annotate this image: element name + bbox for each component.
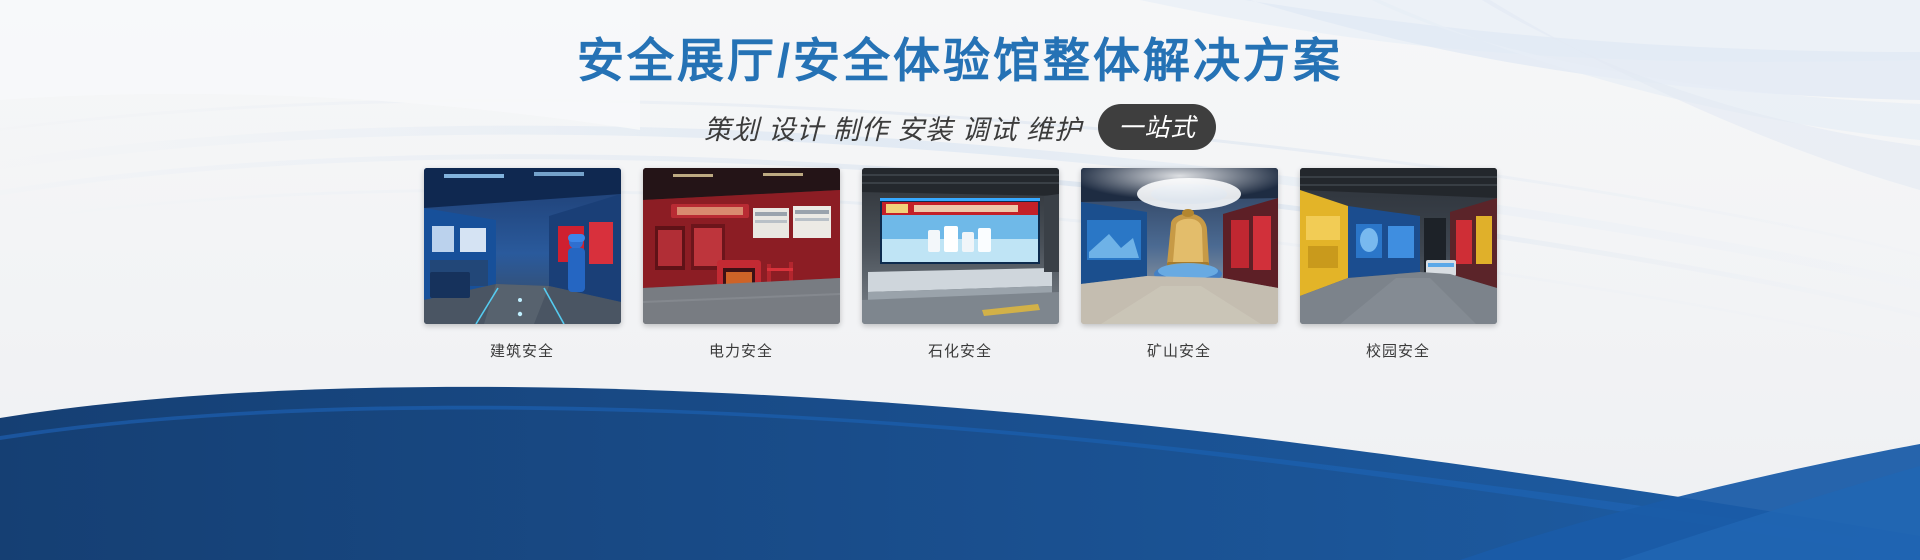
- thumbnail-item[interactable]: 电力安全: [643, 168, 840, 361]
- thumbnail-gallery: 建筑安全: [0, 168, 1920, 361]
- thumbnail-caption: 建筑安全: [424, 340, 621, 361]
- thumbnail-image-electric-power-safety[interactable]: [643, 168, 840, 324]
- thumbnail-item[interactable]: 石化安全: [862, 168, 1059, 361]
- thumbnail-item[interactable]: 校园安全: [1300, 168, 1497, 361]
- thumbnail-caption: 石化安全: [862, 340, 1059, 361]
- one-stop-badge: 一站式: [1098, 104, 1216, 150]
- thumbnail-image-campus-safety[interactable]: [1300, 168, 1497, 324]
- thumbnail-caption: 矿山安全: [1081, 340, 1278, 361]
- thumbnail-image-petrochemical-safety[interactable]: [862, 168, 1059, 324]
- thumbnail-image-mining-safety[interactable]: [1081, 168, 1278, 324]
- thumbnail-item[interactable]: 矿山安全: [1081, 168, 1278, 361]
- thumbnail-caption: 电力安全: [643, 340, 840, 361]
- thumbnail-item[interactable]: 建筑安全: [424, 168, 621, 361]
- thumbnail-image-construction-safety[interactable]: [424, 168, 621, 324]
- thumbnail-caption: 校园安全: [1300, 340, 1497, 361]
- subtitle-row: 策划 设计 制作 安装 调试 维护 一站式: [0, 104, 1920, 150]
- page-title: 安全展厅/安全体验馆整体解决方案: [0, 22, 1920, 91]
- promo-banner: 安全展厅/安全体验馆整体解决方案 策划 设计 制作 安装 调试 维护 一站式: [0, 0, 1920, 560]
- subtitle-text: 策划 设计 制作 安装 调试 维护: [704, 108, 1083, 147]
